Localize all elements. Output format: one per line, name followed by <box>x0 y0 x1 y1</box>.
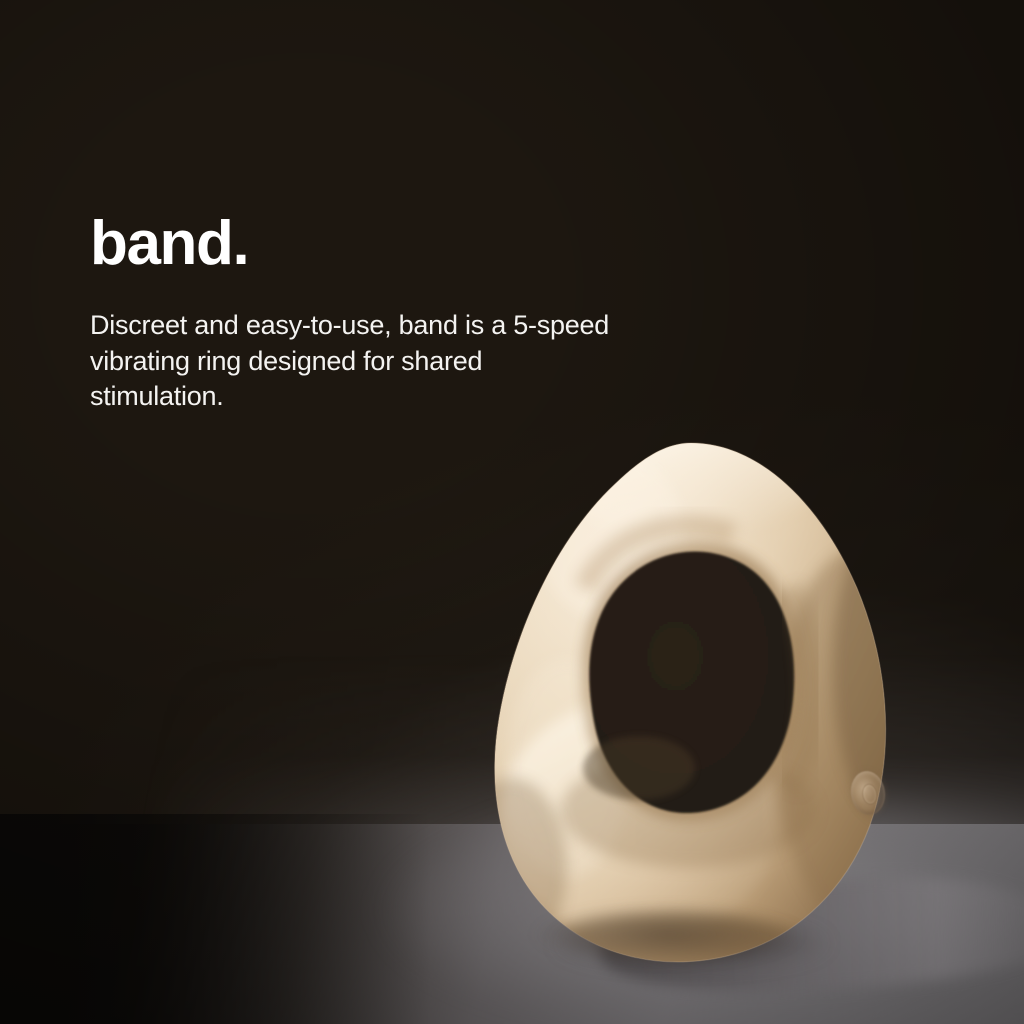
page-title: band. <box>90 212 710 276</box>
product-hero-image: band. Discreet and easy-to-use, band is … <box>0 0 1024 1024</box>
description-line-2: vibrating ring designed for shared <box>90 344 690 380</box>
product-description: Discreet and easy-to-use, band is a 5-sp… <box>90 308 690 415</box>
product-silhouette <box>489 438 893 964</box>
description-line-1: Discreet and easy-to-use, band is a 5-sp… <box>90 308 690 344</box>
product-image-band-ring <box>489 438 893 964</box>
copy-block: band. Discreet and easy-to-use, band is … <box>90 212 710 415</box>
description-line-3: stimulation. <box>90 379 690 415</box>
product-aperture <box>583 544 800 819</box>
